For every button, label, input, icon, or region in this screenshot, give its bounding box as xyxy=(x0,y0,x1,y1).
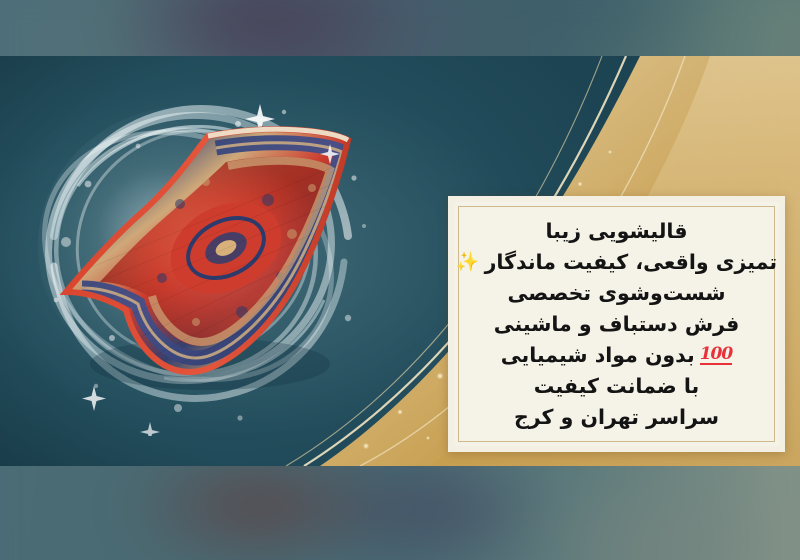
blurred-bottom-fill xyxy=(0,466,800,560)
promo-line-3: شست‌وشوی تخصصی xyxy=(508,278,726,309)
promo-line-text: شست‌وشوی تخصصی xyxy=(508,278,726,309)
sparkles-emoji: ✨ xyxy=(456,253,480,272)
blurred-top-strip xyxy=(0,0,800,56)
promo-line-text: قالیشویی زیبا xyxy=(545,216,687,247)
blurred-bottom-strip xyxy=(0,466,800,560)
hundred-points-emoji: 100 xyxy=(700,346,733,365)
promo-line-text: بدون مواد شیمیایی xyxy=(501,340,695,371)
promo-line-text: سراسر تهران و کرج xyxy=(514,402,719,433)
poster-artwork: قالیشویی زیباتمیزی واقعی، کیفیت ماندگار✨… xyxy=(0,56,800,466)
promo-text-card: قالیشویی زیباتمیزی واقعی، کیفیت ماندگار✨… xyxy=(448,196,785,452)
promo-line-1: قالیشویی زیبا xyxy=(545,216,687,247)
promo-line-7: سراسر تهران و کرج xyxy=(514,402,719,433)
poster-stage: قالیشویی زیباتمیزی واقعی، کیفیت ماندگار✨… xyxy=(0,0,800,560)
promo-line-text: تمیزی واقعی، کیفیت ماندگار xyxy=(485,247,778,278)
blurred-top-fill xyxy=(0,0,800,56)
promo-line-5: 100بدون مواد شیمیایی xyxy=(501,340,732,371)
promo-line-6: با ضمانت کیفیت xyxy=(534,371,699,402)
promo-line-text: با ضمانت کیفیت xyxy=(534,371,699,402)
promo-line-text: فرش دستباف و ماشینی xyxy=(494,309,740,340)
promo-line-2: تمیزی واقعی، کیفیت ماندگار✨ xyxy=(456,247,777,278)
flying-persian-carpet xyxy=(30,96,390,426)
promo-line-4: فرش دستباف و ماشینی xyxy=(494,309,740,340)
promo-text-block: قالیشویی زیباتمیزی واقعی، کیفیت ماندگار✨… xyxy=(466,212,767,436)
